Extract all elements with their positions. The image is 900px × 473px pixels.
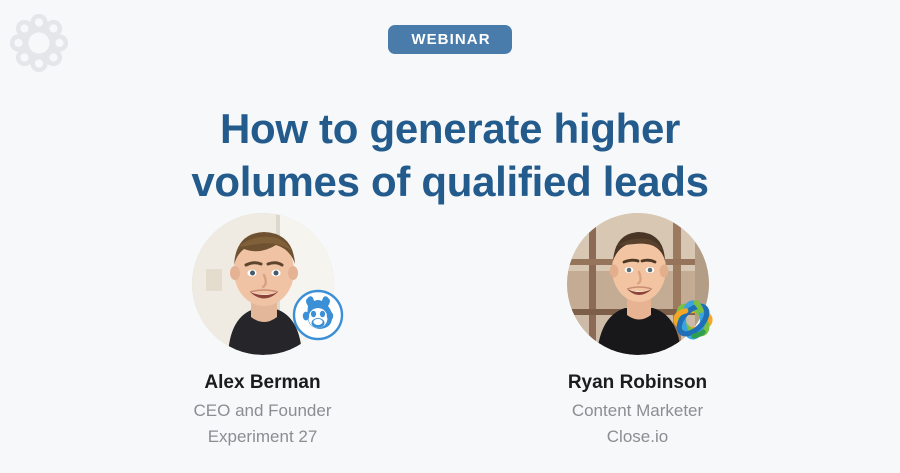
badge-row: WEBINAR: [0, 25, 900, 54]
speakers-list: Alex Berman CEO and Founder Experiment 2…: [0, 213, 900, 450]
page-title: How to generate higher volumes of qualif…: [50, 102, 850, 208]
page-title-line-2: volumes of qualified leads: [50, 155, 850, 208]
speaker-card: Alex Berman CEO and Founder Experiment 2…: [163, 213, 363, 450]
speaker-company: Close.io: [538, 424, 738, 450]
page-title-line-1: How to generate higher: [50, 102, 850, 155]
avatar-wrap: [567, 213, 709, 355]
speaker-name: Ryan Robinson: [538, 372, 738, 394]
speaker-card: Ryan Robinson Content Marketer Close.io: [538, 213, 738, 450]
speaker-role: CEO and Founder: [163, 398, 363, 424]
avatar-wrap: [192, 213, 334, 355]
speaker-company: Experiment 27: [163, 424, 363, 450]
webinar-badge[interactable]: WEBINAR: [388, 25, 511, 54]
speaker-name: Alex Berman: [163, 372, 363, 394]
close-io-woven-ring-icon: [665, 292, 721, 348]
speaker-role: Content Marketer: [538, 398, 738, 424]
mailchimp-monkey-icon: [292, 289, 344, 341]
